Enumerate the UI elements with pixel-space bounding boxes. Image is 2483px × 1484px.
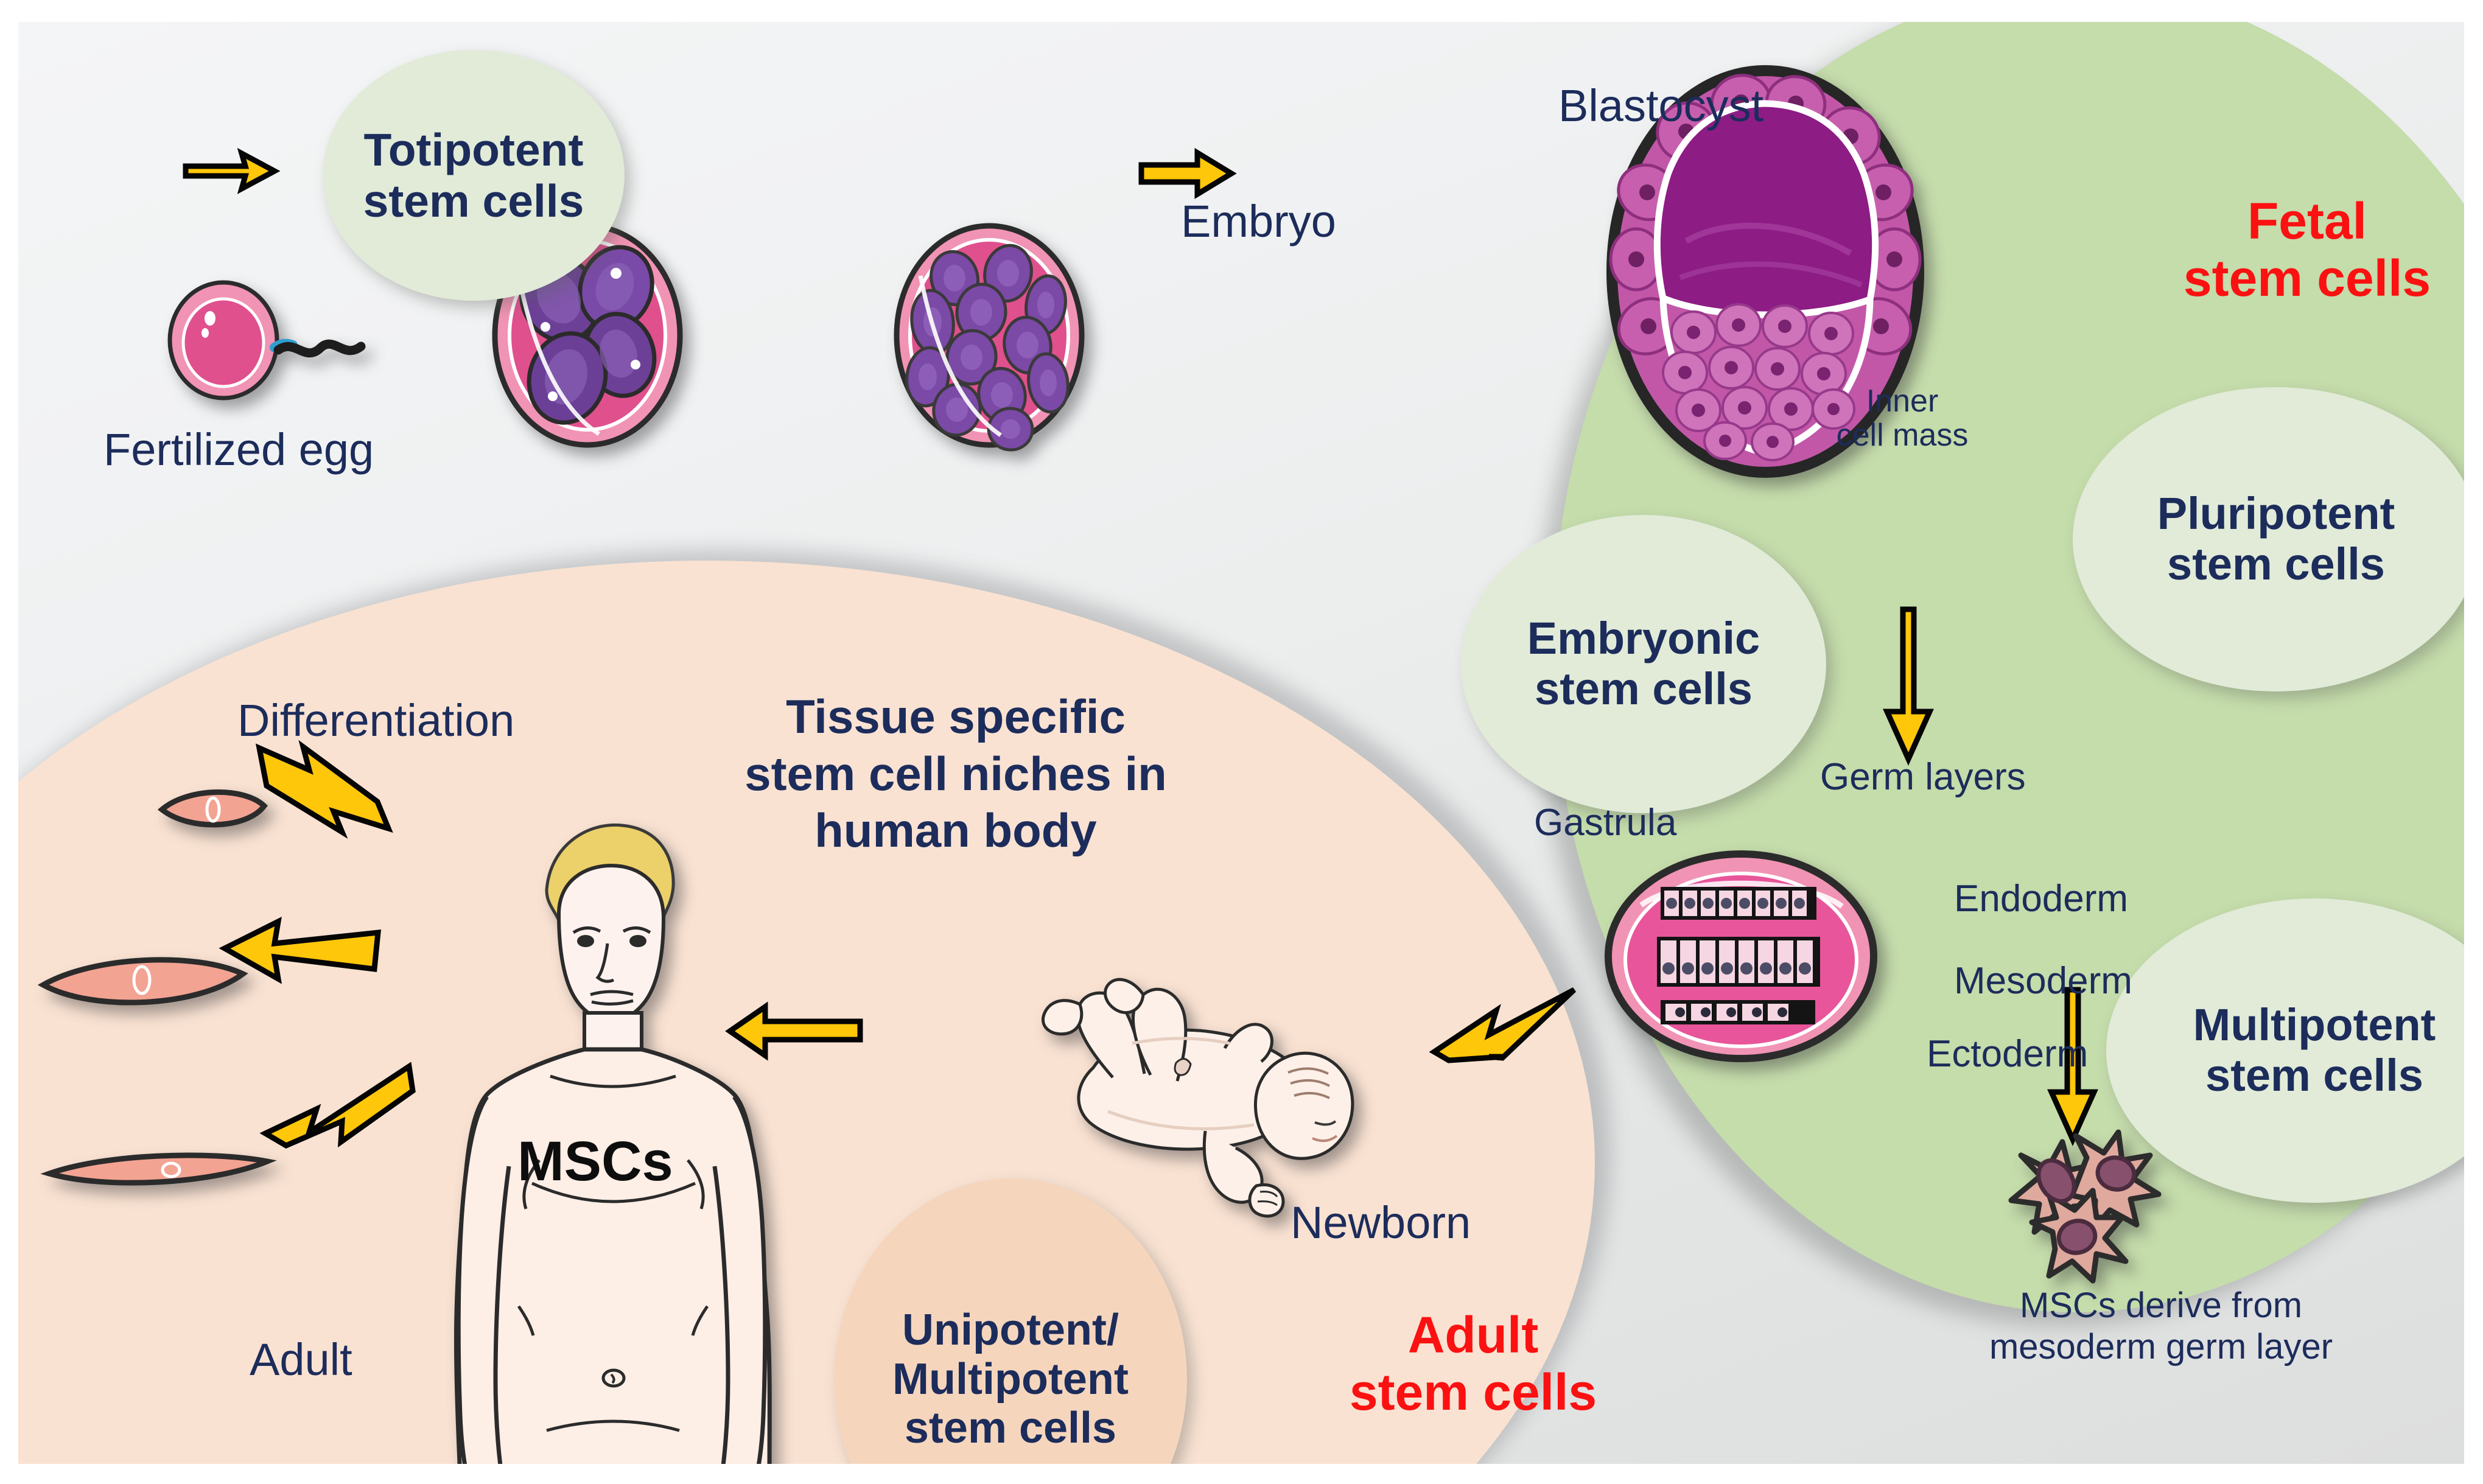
morula-embryo-icon <box>889 220 1090 451</box>
annotation-msc-origin: MSCs derive from mesoderm germ layer <box>1966 1285 2356 1368</box>
differentiated-cell-flat <box>46 1142 271 1194</box>
label-differentiation: Differentiation <box>237 695 514 746</box>
label-ectoderm: Ectoderm <box>1927 1032 2088 1076</box>
arrow-differentiation-top <box>256 743 396 835</box>
bubble-embryonic-stem-cells[interactable]: Embryonic stem cells <box>1461 515 1826 813</box>
label-endoderm: Endoderm <box>1954 877 2128 920</box>
differentiated-cell-medium <box>40 947 247 1014</box>
bubble-pluripotent-label: Pluripotent stem cells <box>2157 489 2395 590</box>
bubble-embryonic-label: Embryonic stem cells <box>1527 614 1760 715</box>
arrow-morula-to-blastocyst <box>1141 147 1233 200</box>
label-embryo: Embryo <box>1181 195 1336 247</box>
bubble-totipotent-stem-cells[interactable]: Totipotent stem cells <box>323 50 625 301</box>
label-gastrula: Gastrula <box>1534 801 1676 844</box>
bubble-unipotent-label: Unipotent/ Multipotent stem cells <box>892 1306 1129 1453</box>
diagram-canvas: Totipotent stem cells Embryonic stem cel… <box>18 22 2464 1464</box>
gastrula-germ-layers-icon <box>1601 847 1881 1066</box>
stem-cell-diagram: Totipotent stem cells Embryonic stem cel… <box>0 0 2483 1484</box>
label-mesoderm: Mesoderm <box>1954 959 2132 1003</box>
arrow-blastocyst-to-germlayers <box>1881 609 1936 761</box>
label-germ-layers: Germ layers <box>1820 755 2026 799</box>
label-adult: Adult <box>250 1334 352 1385</box>
arrow-egg-to-2cell <box>180 144 277 198</box>
label-blastocyst: Blastocyst <box>1558 80 1763 131</box>
annotation-tissue-niches: Tissue specific stem cell niches in huma… <box>743 688 1169 859</box>
label-fetal-stem-cells: Fetal stem cells <box>2161 192 2453 307</box>
bubble-multipotent-label: Multipotent stem cells <box>2193 1000 2436 1101</box>
arrow-gastrula-to-newborn <box>1431 984 1577 1063</box>
label-newborn: Newborn <box>1291 1197 1471 1248</box>
label-mscs-body-marker: MSCs <box>517 1130 673 1194</box>
arrow-differentiation-bottom <box>262 1063 414 1148</box>
fertilized-egg-icon <box>167 275 368 408</box>
label-adult-stem-cells: Adult stem cells <box>1342 1306 1604 1421</box>
bubble-totipotent-label: Totipotent stem cells <box>363 124 584 226</box>
differentiated-cell-small <box>158 782 268 838</box>
label-inner-cell-mass: Inner cell mass <box>1814 384 1991 452</box>
bubble-pluripotent-stem-cells[interactable]: Pluripotent stem cells <box>2073 387 2464 691</box>
label-fertilized-egg: Fertilized egg <box>103 424 374 475</box>
